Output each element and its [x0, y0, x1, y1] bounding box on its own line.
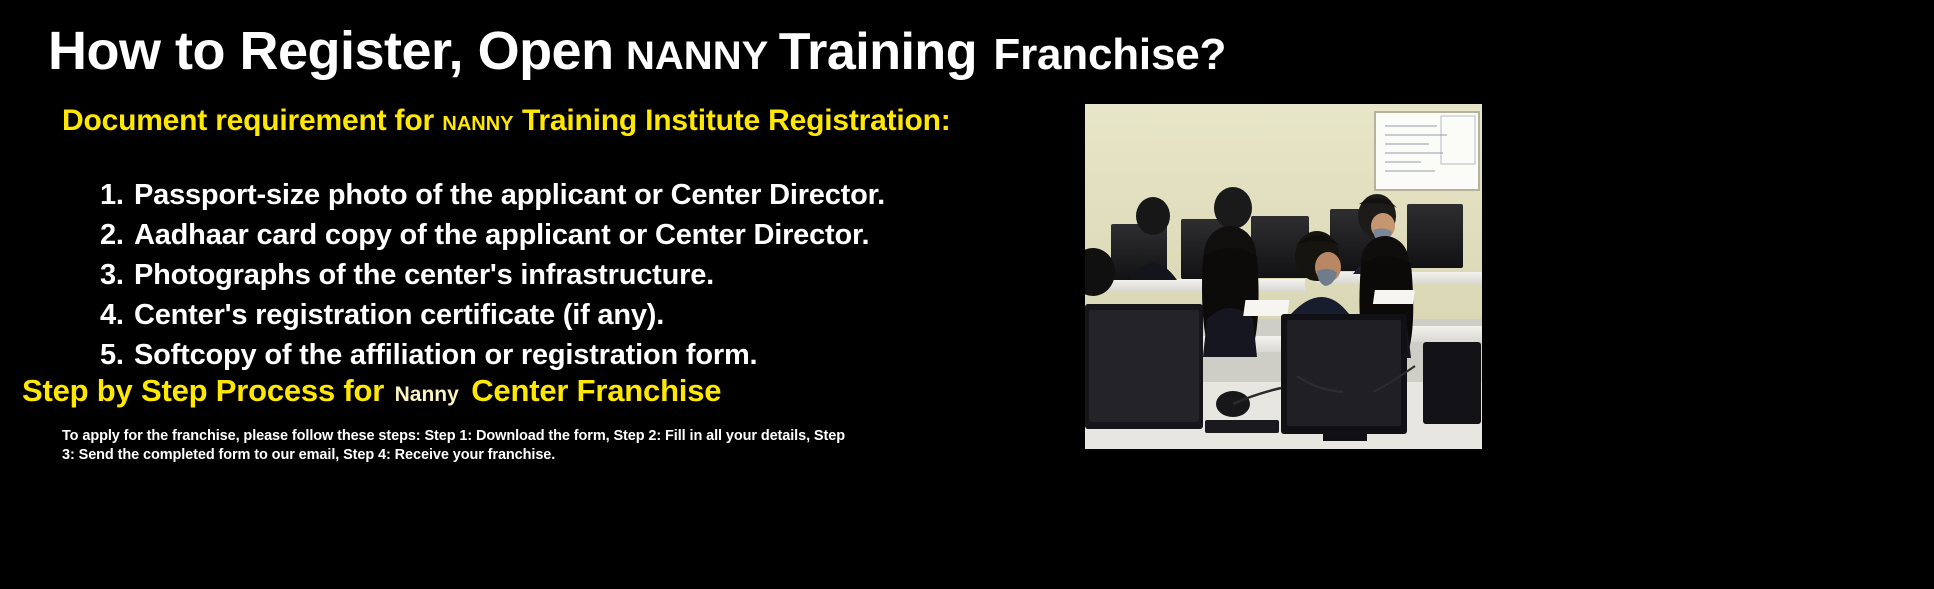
doc-req-suffix: Training Institute Registration: — [522, 104, 951, 137]
list-item: 2.Aadhaar card copy of the applicant or … — [100, 215, 1060, 255]
document-requirement-list: 1.Passport-size photo of the applicant o… — [100, 175, 1060, 375]
title-part-3: Franchise? — [981, 30, 1226, 79]
document-requirement-heading: Document requirement for NANNY Training … — [62, 106, 951, 136]
step-heading-suffix: Center Franchise — [471, 373, 721, 408]
step-heading-prefix: Step by Step Process for — [22, 373, 384, 408]
doc-req-brand-name: NANNY — [438, 113, 517, 135]
list-item: 5.Softcopy of the affiliation or registr… — [100, 335, 1060, 375]
step-heading-brand-name: Nanny — [389, 383, 467, 406]
list-item-label: Passport-size photo of the applicant or … — [134, 179, 885, 211]
list-item-label: Center's registration certificate (if an… — [134, 299, 664, 331]
classroom-photo — [1085, 104, 1482, 449]
list-item-label: Softcopy of the affiliation or registrat… — [134, 339, 757, 371]
list-item-number: 4. — [100, 295, 134, 335]
promotional-banner: How to Register, Open NANNY Training Fra… — [0, 0, 1934, 589]
step-process-heading: Step by Step Process for Nanny Center Fr… — [22, 375, 721, 406]
list-item: 4.Center's registration certificate (if … — [100, 295, 1060, 335]
list-item-number: 5. — [100, 335, 134, 375]
title-part-2: Training — [773, 23, 977, 81]
list-item: 1.Passport-size photo of the applicant o… — [100, 175, 1060, 215]
list-item-number: 3. — [100, 255, 134, 295]
classroom-photo-illustration — [1085, 104, 1482, 449]
list-item-label: Photographs of the center's infrastructu… — [134, 259, 714, 291]
list-item-number: 1. — [100, 175, 134, 215]
doc-req-prefix: Document requirement for — [62, 104, 434, 137]
list-item-number: 2. — [100, 215, 134, 255]
title-brand-name: NANNY — [618, 34, 768, 78]
title-part-1: How to Register, Open — [48, 21, 614, 81]
list-item-label: Aadhaar card copy of the applicant or Ce… — [134, 219, 869, 251]
step-process-paragraph: To apply for the franchise, please follo… — [62, 427, 852, 465]
list-item: 3.Photographs of the center's infrastruc… — [100, 255, 1060, 295]
page-title: How to Register, Open NANNY Training Fra… — [48, 24, 1298, 96]
